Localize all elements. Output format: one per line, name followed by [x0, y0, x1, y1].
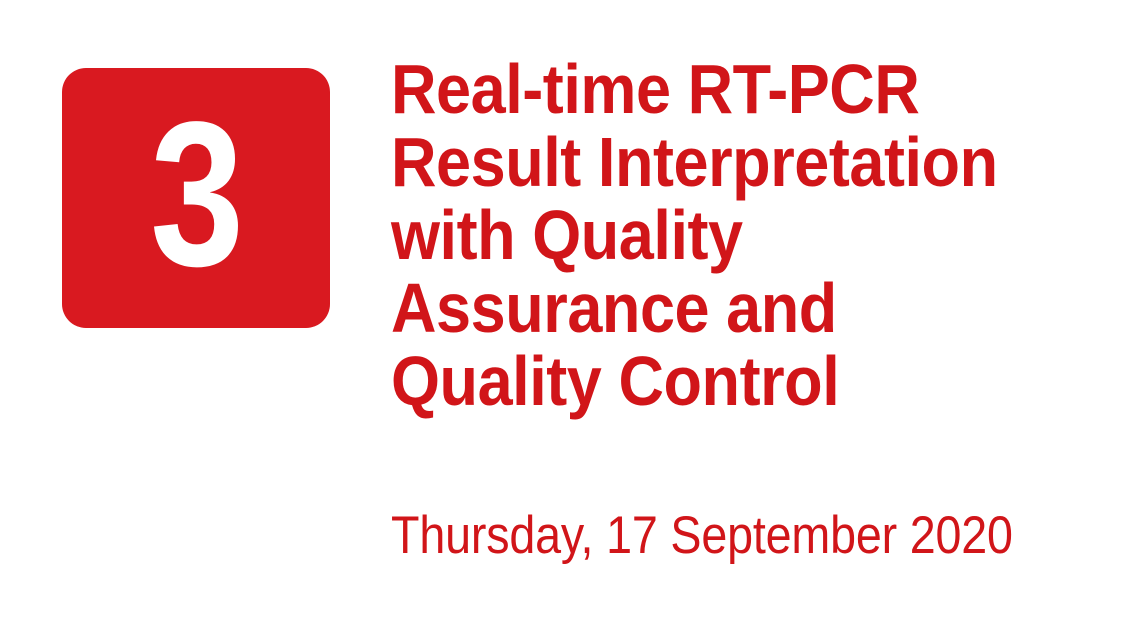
- slide-title: Real-time RT-PCR Result Interpretation w…: [391, 53, 1091, 418]
- title-line-5: Quality Control: [391, 345, 1021, 418]
- slide-date: Thursday, 17 September 2020: [391, 505, 1013, 567]
- title-line-3: with Quality: [391, 199, 1021, 272]
- title-line-4: Assurance and: [391, 272, 1021, 345]
- section-number: 3: [150, 91, 242, 297]
- title-line-2: Result Interpretation: [391, 126, 1021, 199]
- title-slide: 3 Real-time RT-PCR Result Interpretation…: [0, 0, 1140, 640]
- section-number-badge: 3: [62, 68, 330, 328]
- title-line-1: Real-time RT-PCR: [391, 53, 1021, 126]
